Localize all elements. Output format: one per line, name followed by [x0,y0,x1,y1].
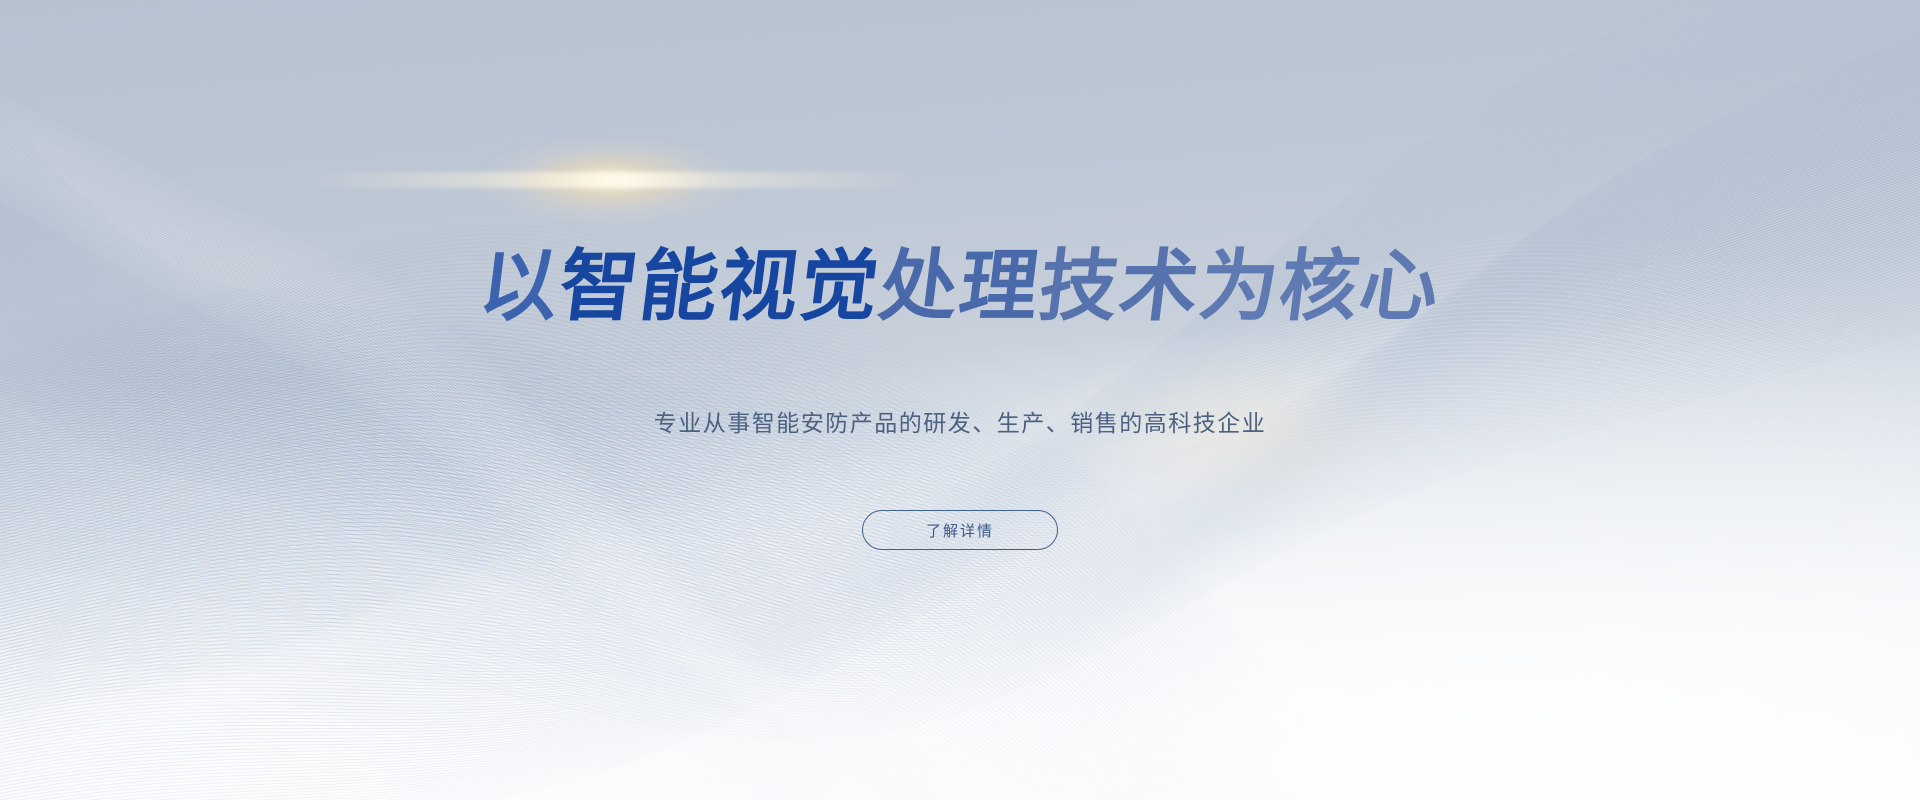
headline-segment-2: 处理 [875,248,1045,326]
headline-segment-4: 为核心 [1195,248,1445,326]
headline-segment-3: 技术 [1035,248,1205,326]
learn-more-button[interactable]: 了解详情 [862,510,1058,550]
hero-subtitle: 专业从事智能安防产品的研发、生产、销售的高科技企业 [0,404,1920,438]
page-title: 以智能视觉处理技术为核心 [0,248,1920,326]
headline-segment-0: 以 [475,248,565,326]
hero-banner: 以智能视觉处理技术为核心 专业从事智能安防产品的研发、生产、销售的高科技企业 了… [0,0,1920,800]
headline-segment-1: 智能视觉 [555,248,885,326]
wave-lines-background [0,0,1920,800]
